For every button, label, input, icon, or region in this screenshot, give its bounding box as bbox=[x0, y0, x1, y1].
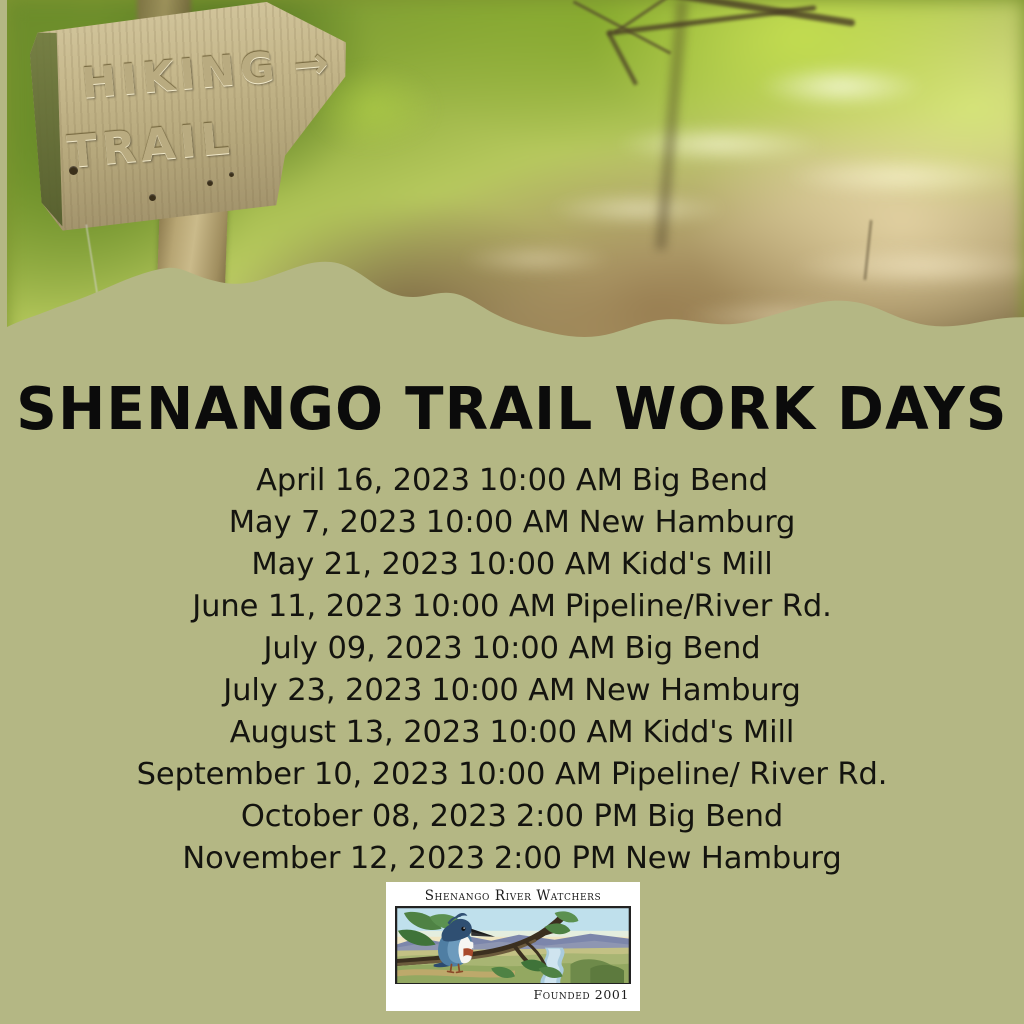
schedule-location: Kidd's Mill bbox=[642, 715, 794, 750]
header-photo-band: HIKING→ TRAIL bbox=[0, 0, 1024, 360]
schedule-location: New Hamburg bbox=[625, 841, 842, 876]
sign-board bbox=[27, 0, 359, 232]
schedule-date: July 09, 2023 bbox=[263, 631, 462, 666]
schedule-location: Big Bend bbox=[647, 799, 783, 834]
schedule-row: April 16, 202310:00 AMBig Bend bbox=[0, 460, 1024, 502]
schedule-time: 2:00 PM bbox=[516, 799, 638, 834]
schedule-location: Pipeline/ River Rd. bbox=[611, 757, 887, 792]
schedule-date: October 08, 2023 bbox=[241, 799, 507, 834]
knot-hole-icon bbox=[207, 180, 213, 186]
schedule-time: 10:00 AM bbox=[472, 631, 616, 666]
page-title: SHENANGO TRAIL WORK DAYS bbox=[0, 355, 1024, 438]
knot-hole-icon bbox=[69, 166, 78, 175]
schedule-row: May 21, 202310:00 AMKidd's Mill bbox=[0, 544, 1024, 586]
schedule-date: August 13, 2023 bbox=[230, 715, 481, 750]
schedule-date: November 12, 2023 bbox=[182, 841, 484, 876]
schedule-time: 10:00 AM bbox=[489, 715, 633, 750]
work-days-schedule-list: April 16, 202310:00 AMBig BendMay 7, 202… bbox=[0, 460, 1024, 880]
schedule-time: 2:00 PM bbox=[494, 841, 616, 876]
knot-hole-icon bbox=[229, 172, 234, 177]
schedule-location: Pipeline/River Rd. bbox=[565, 589, 832, 624]
schedule-time: 10:00 AM bbox=[426, 505, 570, 540]
schedule-row: May 7, 202310:00 AMNew Hamburg bbox=[0, 502, 1024, 544]
schedule-date: July 23, 2023 bbox=[223, 673, 422, 708]
forest-trail-photo: HIKING→ TRAIL bbox=[7, 0, 1024, 360]
schedule-row: October 08, 20232:00 PMBig Bend bbox=[0, 796, 1024, 838]
schedule-date: September 10, 2023 bbox=[137, 757, 449, 792]
schedule-time: 10:00 AM bbox=[479, 463, 623, 498]
wavy-divider bbox=[7, 231, 1024, 360]
knot-hole-icon bbox=[149, 194, 156, 201]
poster: HIKING→ TRAIL SHENANGO TRAIL WORK DAYS A… bbox=[0, 0, 1024, 1024]
schedule-date: April 16, 2023 bbox=[256, 463, 470, 498]
organization-logo: Shenango River Watchers bbox=[386, 882, 640, 1011]
schedule-time: 10:00 AM bbox=[431, 673, 575, 708]
schedule-row: June 11, 202310:00 AMPipeline/River Rd. bbox=[0, 586, 1024, 628]
schedule-row: July 23, 202310:00 AMNew Hamburg bbox=[0, 670, 1024, 712]
schedule-location: New Hamburg bbox=[584, 673, 801, 708]
schedule-time: 10:00 AM bbox=[412, 589, 556, 624]
schedule-location: New Hamburg bbox=[579, 505, 796, 540]
schedule-location: Big Bend bbox=[632, 463, 768, 498]
schedule-location: Kidd's Mill bbox=[621, 547, 773, 582]
schedule-time: 10:00 AM bbox=[468, 547, 612, 582]
schedule-row: July 09, 202310:00 AMBig Bend bbox=[0, 628, 1024, 670]
schedule-row: August 13, 202310:00 AMKidd's Mill bbox=[0, 712, 1024, 754]
schedule-time: 10:00 AM bbox=[458, 757, 602, 792]
schedule-date: June 11, 2023 bbox=[192, 589, 403, 624]
logo-founded-text: Founded 2001 bbox=[395, 984, 631, 1004]
schedule-date: May 21, 2023 bbox=[251, 547, 458, 582]
schedule-location: Big Bend bbox=[625, 631, 761, 666]
schedule-row: September 10, 202310:00 AMPipeline/ Rive… bbox=[0, 754, 1024, 796]
schedule-date: May 7, 2023 bbox=[229, 505, 417, 540]
kingfisher-illustration bbox=[395, 906, 631, 984]
left-border-strip bbox=[0, 0, 7, 360]
logo-org-name: Shenango River Watchers bbox=[395, 888, 631, 905]
poster-content: SHENANGO TRAIL WORK DAYS April 16, 20231… bbox=[0, 355, 1024, 880]
schedule-row: November 12, 20232:00 PMNew Hamburg bbox=[0, 838, 1024, 880]
